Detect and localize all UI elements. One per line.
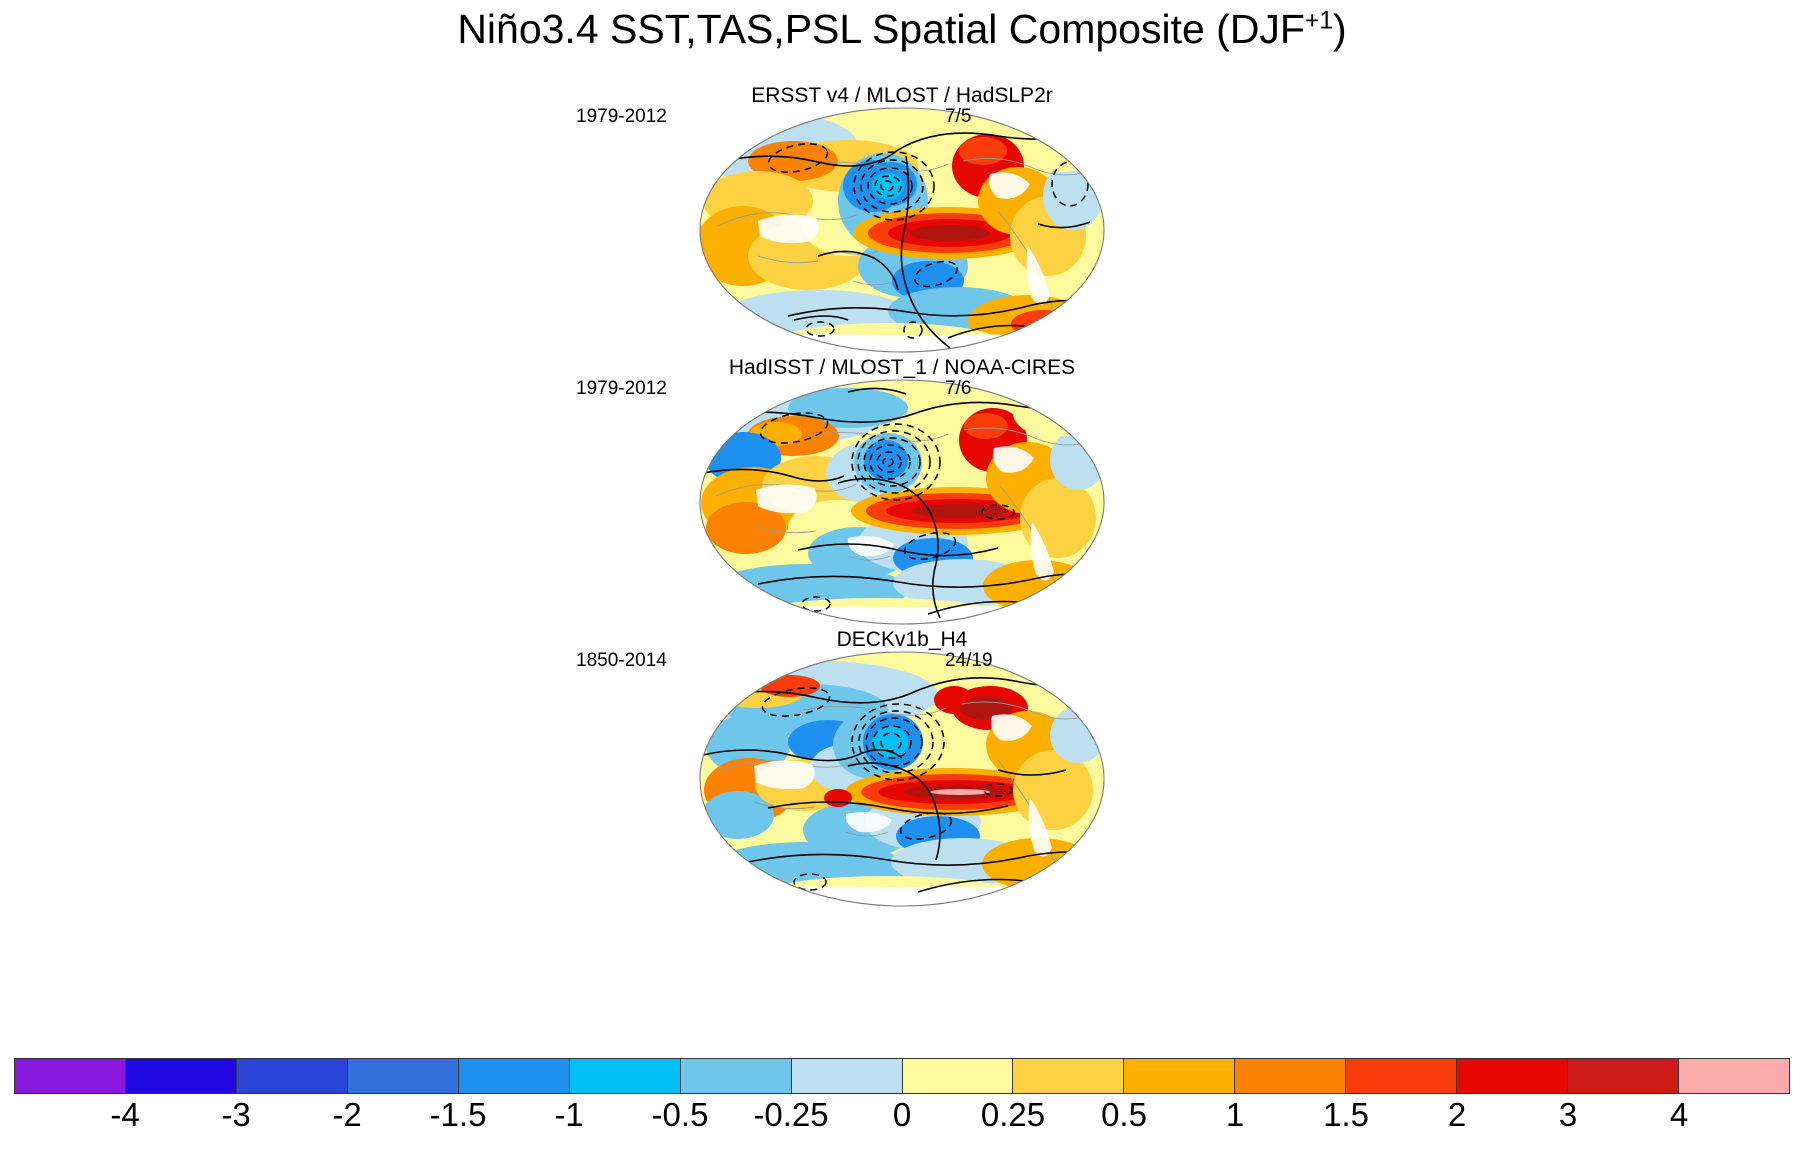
colorbar-tick-5: -0.5 xyxy=(652,1096,709,1134)
colorbar-tick-labels: -4-3-2-1.5-1-0.5-0.2500.250.511.5234 xyxy=(14,1096,1790,1142)
colorbar xyxy=(14,1058,1790,1094)
figure-title: Niño3.4 SST,TAS,PSL Spatial Composite (D… xyxy=(0,6,1804,53)
colorbar-tick-14: 4 xyxy=(1670,1096,1688,1134)
colorbar-band-10 xyxy=(1124,1059,1235,1093)
map-panel-1: HadISST / MLOST_1 / NOAA-CIRES 1979-2012… xyxy=(0,356,1804,628)
colorbar-band-14 xyxy=(1568,1059,1679,1093)
colorbar-band-8 xyxy=(903,1059,1014,1093)
colorbar-band-13 xyxy=(1457,1059,1568,1093)
panel-0-map-svg xyxy=(698,106,1106,354)
panel-1-map xyxy=(698,378,1106,626)
panel-0-map xyxy=(698,106,1106,354)
colorbar-tick-3: -1.5 xyxy=(430,1096,487,1134)
colorbar-tick-8: 0.25 xyxy=(981,1096,1045,1134)
colorbar-band-9 xyxy=(1013,1059,1124,1093)
panel-1-count: 7/6 xyxy=(945,378,971,400)
colorbar-tick-11: 1.5 xyxy=(1323,1096,1369,1134)
colorbar-band-4 xyxy=(459,1059,570,1093)
panel-1-years: 1979-2012 xyxy=(576,378,667,400)
panel-2-count: 24/19 xyxy=(945,650,993,672)
colorbar-tick-4: -1 xyxy=(554,1096,583,1134)
colorbar-band-3 xyxy=(348,1059,459,1093)
figure-title-close: ) xyxy=(1333,6,1347,52)
panel-0-title: ERSST v4 / MLOST / HadSLP2r xyxy=(0,84,1804,108)
map-panel-2: DECKv1b_H4 1850-2014 24/19 xyxy=(0,628,1804,910)
map-panel-0: ERSST v4 / MLOST / HadSLP2r 1979-2012 7/… xyxy=(0,84,1804,356)
figure-title-superscript: +1 xyxy=(1305,7,1333,34)
colorbar-band-2 xyxy=(237,1059,348,1093)
panel-2-map xyxy=(698,650,1106,908)
colorbar-band-15 xyxy=(1679,1059,1789,1093)
colorbar-band-1 xyxy=(126,1059,237,1093)
colorbar-tick-13: 3 xyxy=(1559,1096,1577,1134)
panel-1-title: HadISST / MLOST_1 / NOAA-CIRES xyxy=(0,356,1804,380)
colorbar-band-6 xyxy=(681,1059,792,1093)
colorbar-band-11 xyxy=(1235,1059,1346,1093)
colorbar-tick-12: 2 xyxy=(1448,1096,1466,1134)
colorbar-tick-9: 0.5 xyxy=(1101,1096,1147,1134)
figure-root: Niño3.4 SST,TAS,PSL Spatial Composite (D… xyxy=(0,0,1804,1151)
panel-1-map-svg xyxy=(698,378,1106,626)
panel-0-count: 7/5 xyxy=(945,106,971,128)
colorbar-tick-10: 1 xyxy=(1226,1096,1244,1134)
colorbar-band-0 xyxy=(15,1059,126,1093)
panel-2-map-svg xyxy=(698,650,1106,908)
colorbar-tick-1: -3 xyxy=(221,1096,250,1134)
figure-title-main: Niño3.4 SST,TAS,PSL Spatial Composite (D… xyxy=(457,6,1305,52)
panel-2-title: DECKv1b_H4 xyxy=(0,628,1804,652)
panel-0-years: 1979-2012 xyxy=(576,106,667,128)
colorbar-tick-0: -4 xyxy=(110,1096,139,1134)
colorbar-band-12 xyxy=(1346,1059,1457,1093)
colorbar-band-5 xyxy=(570,1059,681,1093)
panel-2-years: 1850-2014 xyxy=(576,650,667,672)
colorbar-tick-7: 0 xyxy=(893,1096,911,1134)
colorbar-tick-2: -2 xyxy=(332,1096,361,1134)
colorbar-band-7 xyxy=(792,1059,903,1093)
colorbar-tick-6: -0.25 xyxy=(753,1096,828,1134)
